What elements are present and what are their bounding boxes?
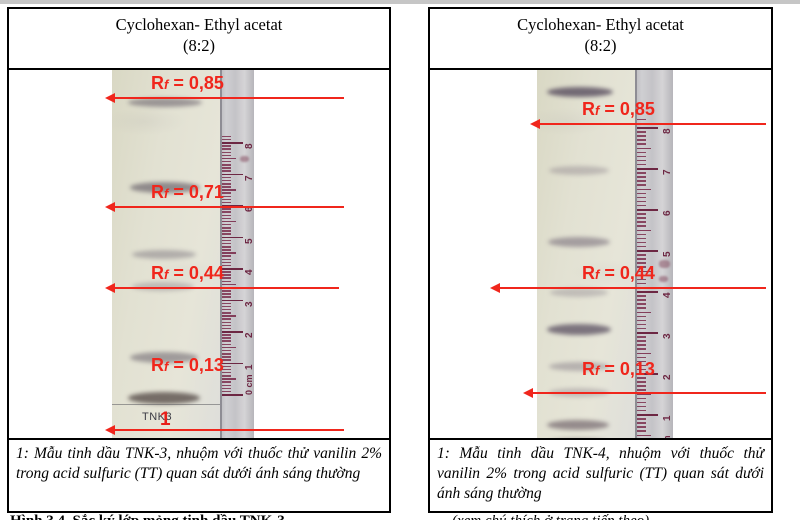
tlc-band: [548, 237, 610, 247]
ruler-tick: [637, 189, 651, 191]
ruler-tick: [222, 224, 231, 226]
ruler-tick: [222, 139, 231, 141]
ruler-tick: [222, 233, 231, 235]
ruler-number: 3: [244, 301, 254, 307]
ruler-tick: [222, 148, 231, 150]
ruler-tick: [637, 324, 646, 326]
ruler-smudge: [659, 276, 668, 282]
ruler-smudge: [240, 156, 249, 162]
rf-value: = 0,13: [599, 359, 655, 379]
ruler-number: 8: [662, 128, 673, 134]
ruler-tick: [637, 353, 651, 355]
ruler-tick: [222, 170, 231, 172]
annotation-line: [114, 97, 344, 99]
rf-value: = 0,71: [168, 182, 224, 202]
rf-label-013: Rf = 0,13: [151, 356, 224, 374]
ruler-number: 8: [244, 143, 254, 149]
plate-texture: [537, 70, 635, 438]
ruler-tick: [222, 375, 231, 377]
ruler-tick: [637, 119, 646, 121]
rf-prefix: R: [582, 359, 595, 379]
ruler-tick: [222, 158, 236, 160]
panel-right-header: Cyclohexan- Ethyl acetat (8:2): [430, 9, 771, 70]
ruler-tick: [637, 299, 646, 301]
ruler-tick: [222, 240, 231, 242]
ruler-tick: [637, 430, 646, 432]
annotation-line: [114, 206, 344, 208]
ruler-tick: [637, 258, 646, 260]
ruler-tick: [637, 221, 646, 223]
ruler-tick: [637, 385, 646, 387]
ruler-tick: [637, 283, 646, 285]
ruler-tick: [222, 152, 231, 154]
bottom-clipped-text-right: (xem chú thích ở trang tiếp theo): [452, 513, 649, 520]
ruler-tick: [222, 167, 231, 169]
ruler-tick: [637, 225, 646, 227]
ruler-tick: [637, 291, 658, 293]
ruler-tick: [637, 418, 646, 420]
ruler-tick: [222, 284, 236, 286]
ruler-tick: [222, 296, 231, 298]
ruler-zero-label: 0 cm: [662, 435, 672, 438]
tlc-band: [132, 250, 196, 259]
ruler-tick: [637, 209, 658, 211]
ruler-tick: [637, 238, 646, 240]
ruler-tick: [222, 243, 231, 245]
ruler-tick: [222, 303, 231, 305]
ruler-number: 5: [244, 238, 254, 244]
ruler-tick: [637, 197, 646, 199]
ruler-tick: [222, 388, 231, 390]
caption-line-1: 1: Mẫu tinh dầu TNK-4, nhuộm với thuốc: [437, 445, 734, 462]
ruler-tick: [222, 337, 231, 339]
ruler-tick: [222, 255, 231, 257]
ruler-tick: [637, 398, 646, 400]
ruler-tick: [222, 221, 236, 223]
ruler-tick: [222, 385, 231, 387]
ruler-tick: [637, 303, 646, 305]
ruler-tick: [637, 143, 646, 145]
ruler-tick: [222, 268, 243, 270]
ruler-left: 123456780 cm: [220, 70, 254, 438]
ruler-tick: [637, 250, 658, 252]
ruler-tick: [637, 230, 651, 232]
ruler-tick: [222, 309, 231, 311]
ruler-tick: [222, 350, 231, 352]
rf-prefix: R: [151, 355, 164, 375]
ruler-tick: [222, 252, 236, 254]
ruler-number: 7: [244, 175, 254, 181]
ruler-tick: [637, 184, 646, 186]
panel-left-photo-area: TNK3 1 123456780 cm Rf = 0,85 Rf = 0,71 …: [9, 70, 389, 438]
ruler-tick: [222, 318, 231, 320]
ruler-tick: [222, 322, 231, 324]
ruler-tick: [637, 148, 651, 150]
ruler-tick: [222, 164, 231, 166]
ruler-tick: [222, 315, 236, 317]
ruler-tick: [222, 331, 243, 333]
rf-value: = 0,85: [168, 73, 224, 93]
tlc-band: [547, 87, 613, 97]
ruler-tick: [637, 328, 646, 330]
ruler-tick: [637, 201, 646, 203]
ruler-tick: [637, 316, 646, 318]
ruler-tick: [637, 336, 646, 338]
ruler-tick: [637, 410, 646, 412]
tlc-photograph-right: TNK4 1 123456780 cm: [537, 70, 673, 438]
ruler-tick: [637, 180, 646, 182]
ruler-tick: [222, 340, 231, 342]
annotation-line: [539, 123, 766, 125]
tlc-band: [549, 166, 609, 175]
ruler-tick: [637, 164, 646, 166]
ruler-tick: [222, 391, 231, 393]
rf-label-013: Rf = 0,13: [582, 360, 655, 378]
ruler-tick: [222, 218, 231, 220]
ruler-tick: [222, 202, 231, 204]
ruler-tick: [637, 307, 646, 309]
ruler-tick: [637, 205, 646, 207]
panel-right-header-line2: (8:2): [434, 35, 767, 56]
tlc-band: [550, 288, 608, 297]
ruler-number: 2: [244, 332, 254, 338]
ruler-tick: [637, 357, 646, 359]
ruler-tick: [222, 215, 231, 217]
ruler-tick: [222, 161, 231, 163]
ruler-tick: [222, 381, 231, 383]
ruler-tick: [222, 306, 231, 308]
figure-panel-right: Cyclohexan- Ethyl acetat (8:2) TNK4 1: [428, 7, 773, 513]
rf-label-044: Rf = 0,44: [582, 264, 655, 282]
caption-line-1: 1: Mẫu tinh dầu TNK-3, nhuộm với thuốc: [16, 445, 283, 462]
ruler-tick: [637, 176, 646, 178]
ruler-number: 5: [662, 251, 673, 257]
ruler-tick: [222, 145, 231, 147]
ruler-tick: [637, 213, 646, 215]
ruler-tick: [637, 135, 646, 137]
ruler-tick: [222, 259, 231, 261]
ruler-tick: [222, 325, 231, 327]
ruler-tick: [637, 422, 646, 424]
ruler-tick: [637, 242, 646, 244]
ruler-number: 4: [662, 292, 673, 298]
ruler-tick: [222, 174, 243, 176]
bottom-clipped-text-left: Hình 3.4. Sắc ký lớp mỏng tinh dầu TNK-3: [10, 513, 285, 520]
ruler-tick: [637, 246, 646, 248]
ruler-tick: [637, 320, 646, 322]
ruler-tick: [637, 152, 646, 154]
ruler-tick: [637, 168, 658, 170]
ruler-number: 3: [662, 333, 673, 339]
ruler-tick: [637, 254, 646, 256]
rf-label-085: Rf = 0,85: [151, 74, 224, 92]
ruler-tick: [222, 334, 231, 336]
tlc-plate-left: TNK3 1: [112, 70, 220, 438]
caption-line-3: quan sát dưới ánh sáng thường: [166, 465, 360, 482]
ruler-tick: [637, 234, 646, 236]
figure-panel-left: Cyclohexan- Ethyl acetat (8:2) TNK3 1: [7, 7, 391, 513]
rf-value: = 0,44: [168, 263, 224, 283]
ruler-number: 7: [662, 169, 673, 175]
ruler-tick: [637, 127, 658, 129]
ruler-tick: [222, 136, 231, 138]
ruler-tick: [637, 402, 646, 404]
ruler-tick: [222, 347, 236, 349]
ruler-tick: [222, 312, 231, 314]
ruler-tick: [637, 348, 646, 350]
rf-label-085: Rf = 0,85: [582, 100, 655, 118]
ruler-tick: [637, 131, 646, 133]
rf-label-044: Rf = 0,44: [151, 264, 224, 282]
ruler-number: 1: [662, 415, 673, 421]
tlc-baseline: [112, 404, 220, 405]
annotation-line: [114, 287, 339, 289]
tlc-band: [547, 420, 609, 430]
ruler-tick: [637, 139, 646, 141]
ruler-tick: [222, 211, 231, 213]
tlc-plate-right: TNK4 1: [537, 70, 635, 438]
ruler-tick: [637, 426, 646, 428]
ruler-number: 6: [662, 210, 673, 216]
panel-right-photo-area: TNK4 1 123456780 cm Rf = 0,85 Rf = 0,44 …: [430, 70, 771, 438]
ruler-tick: [637, 406, 646, 408]
rf-prefix: R: [582, 99, 595, 119]
tlc-band: [547, 324, 611, 335]
ruler-tick: [637, 217, 646, 219]
tlc-photograph-left: TNK3 1 123456780 cm: [112, 70, 254, 438]
ruler-tick: [222, 378, 236, 380]
ruler-tick: [637, 381, 646, 383]
ruler-number: 4: [244, 269, 254, 275]
panel-left-header-line2: (8:2): [13, 35, 385, 56]
rf-value: = 0,85: [599, 99, 655, 119]
ruler-tick: [637, 344, 646, 346]
ruler-tick: [222, 142, 243, 144]
tlc-band: [128, 98, 202, 107]
rf-label-071: Rf = 0,71: [151, 183, 224, 201]
panel-right-caption: 1: Mẫu tinh dầu TNK-4, nhuộm với thuốc t…: [430, 438, 771, 512]
ruler-tick: [222, 363, 243, 365]
ruler-tick: [637, 389, 646, 391]
ruler-tick: [637, 340, 646, 342]
ruler-tick: [637, 332, 658, 334]
panel-left-caption: 1: Mẫu tinh dầu TNK-3, nhuộm với thuốc t…: [9, 438, 389, 512]
ruler-tick: [222, 208, 231, 210]
ruler-tick: [222, 155, 231, 157]
ruler-tick: [637, 172, 646, 174]
ruler-number: 2: [662, 374, 673, 380]
ruler-tick: [222, 230, 231, 232]
ruler-number: 1: [244, 364, 254, 370]
ruler-tick: [222, 237, 243, 239]
ruler-tick: [637, 312, 651, 314]
rf-value: = 0,44: [599, 263, 655, 283]
ruler-tick: [637, 160, 646, 162]
rf-prefix: R: [582, 263, 595, 283]
ruler-tick: [222, 249, 231, 251]
panel-left-header-line1: Cyclohexan- Ethyl acetat: [116, 15, 283, 34]
ruler-tick: [222, 177, 231, 179]
ruler-tick: [637, 435, 651, 437]
ruler-right: 123456780 cm: [635, 70, 673, 438]
tlc-band: [128, 392, 200, 404]
ruler-smudge: [659, 260, 670, 268]
ruler-tick: [222, 328, 231, 330]
ruler-tick: [222, 290, 231, 292]
ruler-tick: [222, 227, 231, 229]
ruler-tick: [637, 414, 658, 416]
ruler-tick: [637, 295, 646, 297]
ruler-tick: [222, 293, 231, 295]
rf-value: = 0,13: [168, 355, 224, 375]
rf-prefix: R: [151, 73, 164, 93]
ruler-tick: [222, 246, 231, 248]
annotation-line: [532, 392, 766, 394]
rf-prefix: R: [151, 182, 164, 202]
ruler-zero-label: 0 cm: [244, 374, 254, 395]
ruler-tick: [222, 394, 243, 396]
lane-marker-left: 1: [160, 410, 171, 429]
panel-left-header: Cyclohexan- Ethyl acetat (8:2): [9, 9, 389, 70]
ruler-tick: [637, 394, 651, 396]
top-grey-bar: [0, 0, 800, 4]
annotation-line: [499, 287, 766, 289]
ruler-tick: [637, 193, 646, 195]
ruler-tick: [222, 344, 231, 346]
annotation-line: [114, 429, 344, 431]
ruler-tick: [637, 156, 646, 158]
rf-prefix: R: [151, 263, 164, 283]
panel-right-header-line1: Cyclohexan- Ethyl acetat: [517, 15, 684, 34]
ruler-tick: [222, 300, 243, 302]
ruler-tick: [222, 189, 236, 191]
